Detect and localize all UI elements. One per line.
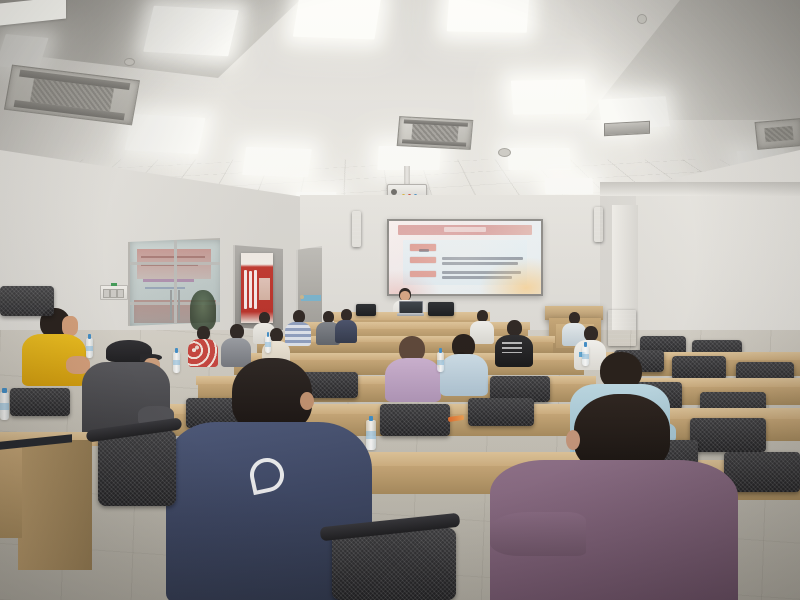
laptop-keyboard[interactable] xyxy=(397,313,424,316)
desktop-monitor xyxy=(356,304,376,316)
door-knob-icon[interactable] xyxy=(300,295,304,299)
smoke-detector-icon xyxy=(498,148,511,157)
water-bottle[interactable] xyxy=(437,352,444,372)
attendee-black-graphic-tee xyxy=(495,320,533,364)
water-bottle[interactable] xyxy=(0,392,9,420)
chair[interactable] xyxy=(98,430,176,506)
chair[interactable] xyxy=(380,404,450,436)
attendee-purple-foreground xyxy=(490,394,738,600)
potted-plant xyxy=(190,290,216,330)
desk-end-panel xyxy=(18,440,92,570)
attendee-yellow-polo xyxy=(22,308,86,382)
slide-text-line xyxy=(419,249,428,251)
attendee-lavender-top xyxy=(385,336,441,396)
water-bottle[interactable] xyxy=(265,336,271,353)
tshirt-graphic xyxy=(502,342,522,353)
desk-row-front xyxy=(0,442,22,538)
wall-speaker-right xyxy=(594,207,603,242)
light-switch-panel[interactable] xyxy=(100,285,128,300)
chair[interactable] xyxy=(10,388,70,416)
right-wall-ledge xyxy=(600,182,800,196)
arm xyxy=(490,512,586,556)
ceiling-air-conditioner xyxy=(397,116,474,150)
desktop-monitor xyxy=(428,302,454,316)
ear xyxy=(566,430,580,450)
ear xyxy=(300,392,314,410)
attendee-light-blue-blouse xyxy=(440,334,488,392)
floor-speaker-box xyxy=(608,310,636,346)
slide-tag xyxy=(410,257,436,264)
attendee-seated-far-left xyxy=(335,309,357,341)
projection-screen xyxy=(387,219,543,296)
face xyxy=(62,316,78,336)
chair[interactable] xyxy=(672,356,726,380)
wall-speaker-left xyxy=(352,211,361,247)
chair[interactable] xyxy=(332,528,456,600)
slide-title-bar xyxy=(398,225,532,234)
ceiling-light-panel xyxy=(447,0,530,33)
presentation-slide xyxy=(389,221,541,294)
chair[interactable] xyxy=(0,286,54,316)
door-handle[interactable] xyxy=(170,290,172,320)
door-sign xyxy=(301,295,321,301)
projector-mount-pole xyxy=(404,166,410,186)
head xyxy=(232,358,312,432)
slide-decor-glow xyxy=(477,256,541,294)
classroom-scene: Classroom training session Lecture hall … xyxy=(0,0,800,600)
door-handle[interactable] xyxy=(178,290,180,320)
